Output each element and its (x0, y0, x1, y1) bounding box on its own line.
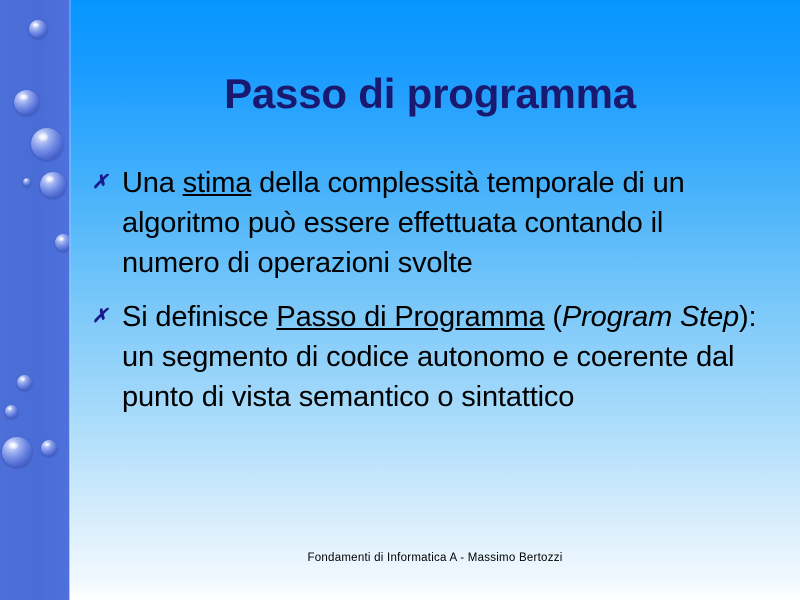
bubble-decoration-6 (55, 234, 70, 251)
slide-footer: Fondamenti di Informatica A - Massimo Be… (70, 552, 800, 564)
bullet-segment-underlined: stima (183, 167, 252, 199)
list-item: ✗ Si definisce Passo di Programma (Progr… (88, 297, 768, 417)
bullet-marker-icon: ✗ (88, 297, 122, 337)
sidebar-edge-highlight (69, 0, 71, 600)
bullet-segment-underlined: Passo di Programma (276, 301, 544, 333)
bubble-decoration-9 (2, 437, 32, 467)
bullet-segment: Una (122, 167, 183, 199)
bubble-decoration-2 (14, 90, 39, 115)
bullet-segment-italic: Program Step (562, 301, 739, 333)
bullet-list: ✗ Una stima della complessità temporale … (88, 163, 768, 431)
list-item: ✗ Una stima della complessità temporale … (88, 163, 768, 283)
bubble-decoration-7 (17, 375, 32, 390)
bubble-decoration-3 (31, 128, 63, 160)
slide-canvas: Passo di programma ✗ Una stima della com… (0, 0, 800, 600)
bubble-decoration-10 (41, 440, 57, 456)
decorative-sidebar (0, 0, 70, 600)
bullet-marker-icon: ✗ (88, 163, 122, 203)
bubble-decoration-5 (40, 172, 66, 198)
bubble-decoration-1 (29, 20, 47, 38)
bullet-segment: ( (545, 301, 562, 333)
bubble-decoration-8 (5, 405, 18, 418)
bullet-text: Si definisce Passo di Programma (Program… (122, 297, 768, 417)
bullet-text: Una stima della complessità temporale di… (122, 163, 768, 283)
page-title: Passo di programma (100, 72, 760, 116)
bubble-decoration-4 (23, 178, 31, 186)
bullet-segment: Si definisce (122, 301, 276, 333)
